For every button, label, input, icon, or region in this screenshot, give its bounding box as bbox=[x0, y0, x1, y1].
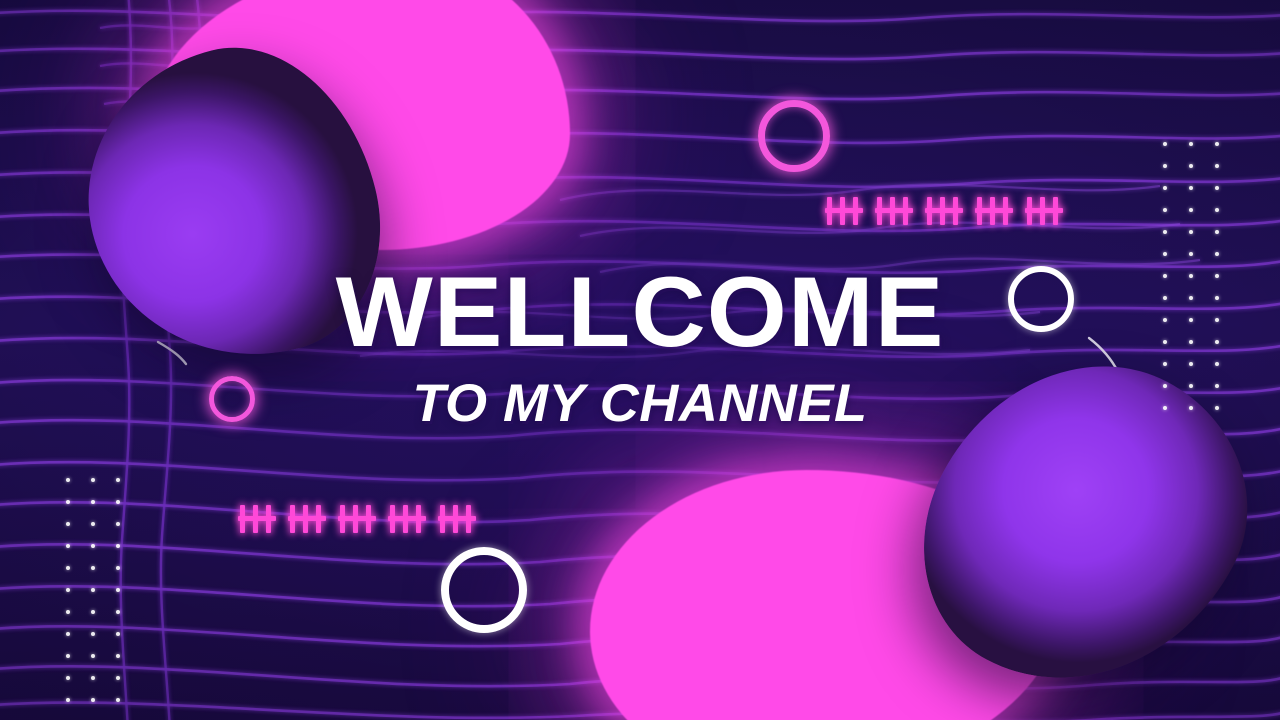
dot bbox=[1163, 252, 1167, 256]
dot bbox=[66, 654, 70, 658]
headline-block: WELLCOME TO MY CHANNEL bbox=[0, 262, 1280, 430]
dot bbox=[116, 654, 120, 658]
dot bbox=[116, 610, 120, 614]
dot bbox=[116, 522, 120, 526]
dot bbox=[66, 632, 70, 636]
dot bbox=[1215, 230, 1219, 234]
dot bbox=[1189, 142, 1193, 146]
tally-group bbox=[238, 505, 278, 533]
dot bbox=[116, 500, 120, 504]
dot bbox=[1215, 186, 1219, 190]
dot bbox=[1189, 208, 1193, 212]
tally-group bbox=[975, 197, 1015, 225]
dot bbox=[66, 522, 70, 526]
tally-group bbox=[875, 197, 915, 225]
dot-grid-left bbox=[66, 478, 120, 702]
dot bbox=[91, 698, 95, 702]
dot bbox=[66, 500, 70, 504]
dot bbox=[91, 632, 95, 636]
dot bbox=[1215, 208, 1219, 212]
tally-group bbox=[388, 505, 428, 533]
dot bbox=[1189, 230, 1193, 234]
dot bbox=[1215, 252, 1219, 256]
dot bbox=[1163, 164, 1167, 168]
page-title: WELLCOME bbox=[0, 262, 1280, 361]
dot bbox=[116, 544, 120, 548]
dot bbox=[116, 632, 120, 636]
dot bbox=[1215, 142, 1219, 146]
dot bbox=[91, 544, 95, 548]
dot bbox=[66, 566, 70, 570]
dot bbox=[66, 676, 70, 680]
dot bbox=[1163, 230, 1167, 234]
dot bbox=[91, 478, 95, 482]
dot bbox=[91, 588, 95, 592]
dot bbox=[1163, 142, 1167, 146]
dot bbox=[66, 544, 70, 548]
page-subtitle: TO MY CHANNEL bbox=[0, 377, 1280, 430]
dot bbox=[91, 566, 95, 570]
dot bbox=[116, 478, 120, 482]
tally-group bbox=[288, 505, 328, 533]
dot bbox=[66, 610, 70, 614]
dot bbox=[91, 654, 95, 658]
dot bbox=[91, 676, 95, 680]
tally-group bbox=[825, 197, 865, 225]
dot bbox=[1163, 186, 1167, 190]
dot bbox=[116, 566, 120, 570]
dot bbox=[1189, 252, 1193, 256]
dot bbox=[66, 588, 70, 592]
tally-group bbox=[1025, 197, 1065, 225]
dot bbox=[1163, 208, 1167, 212]
tally-group bbox=[925, 197, 965, 225]
dot bbox=[91, 610, 95, 614]
dot bbox=[1189, 164, 1193, 168]
banner-canvas: WELLCOME TO MY CHANNEL bbox=[0, 0, 1280, 720]
dot bbox=[91, 522, 95, 526]
tally-row-bottom bbox=[238, 505, 478, 533]
tally-group bbox=[438, 505, 478, 533]
dot bbox=[116, 676, 120, 680]
tally-row-top bbox=[825, 197, 1065, 225]
dot bbox=[91, 500, 95, 504]
dot bbox=[66, 478, 70, 482]
ring-white-bottom bbox=[441, 547, 527, 633]
dot bbox=[1215, 164, 1219, 168]
tally-group bbox=[338, 505, 378, 533]
ring-pink-top-right bbox=[758, 100, 830, 172]
dot bbox=[116, 698, 120, 702]
dot bbox=[116, 588, 120, 592]
dot bbox=[66, 698, 70, 702]
dot bbox=[1189, 186, 1193, 190]
